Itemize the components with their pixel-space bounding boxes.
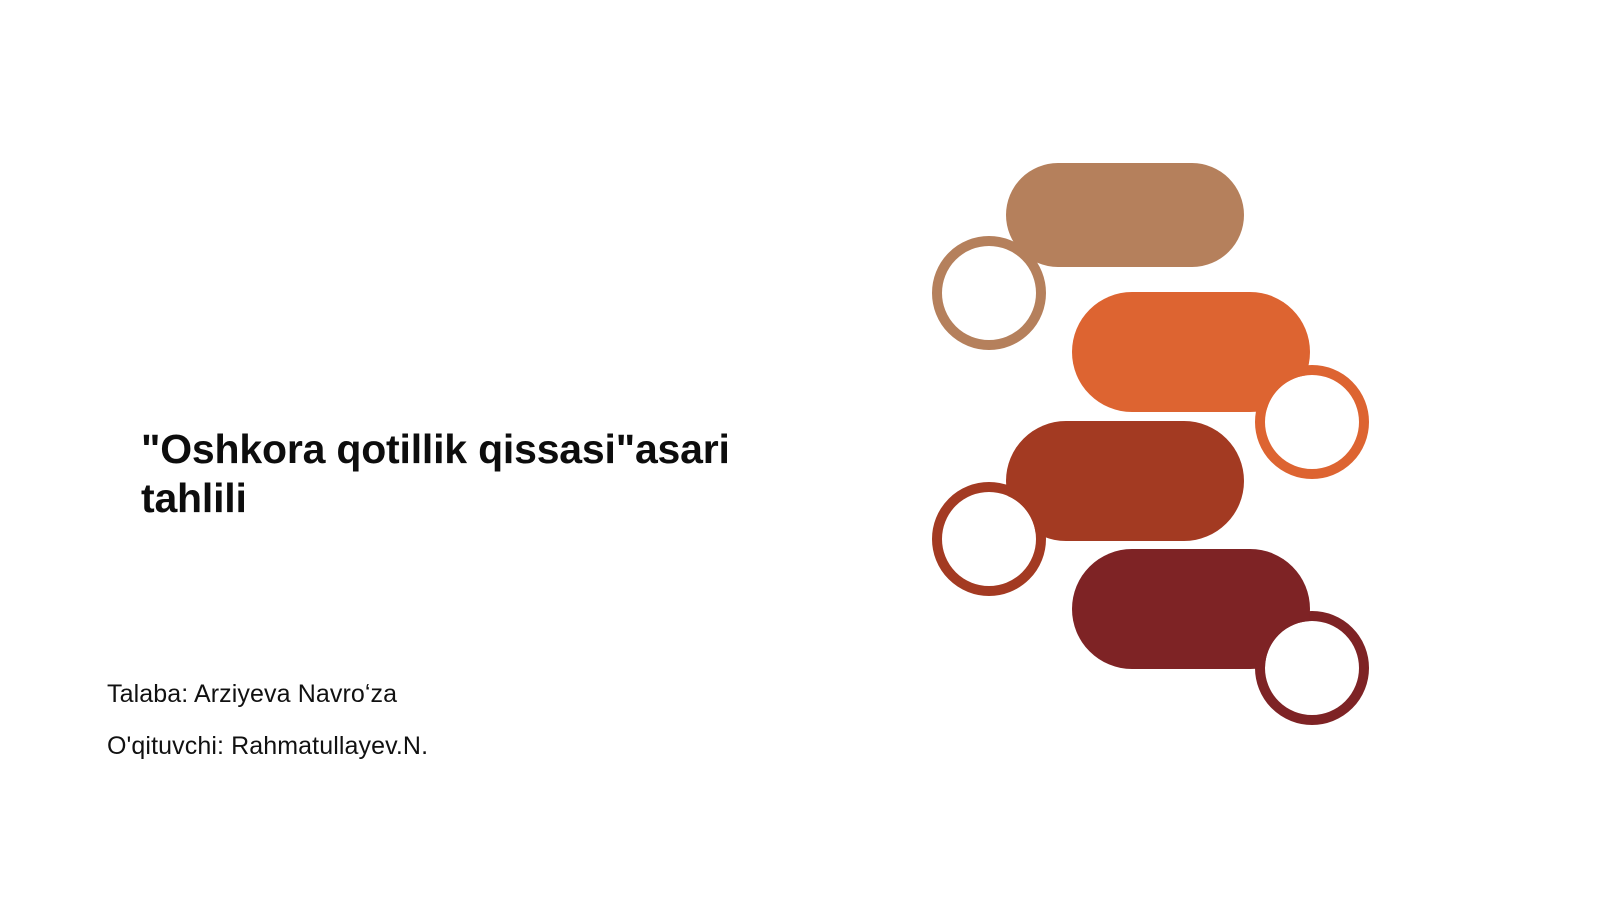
title-slide: "Oshkora qotillik qissasi"asari tahlili … — [0, 0, 1600, 900]
pill-row-4-maroon — [1072, 549, 1310, 669]
subtitle-teacher: O'qituvchi: Rahmatullayev.N. — [107, 720, 807, 772]
pill-row-1-tan — [1006, 163, 1244, 267]
pill-ring-stack-svg — [890, 140, 1410, 760]
text-column: "Oshkora qotillik qissasi"asari tahlili … — [0, 0, 900, 900]
subtitle-student: Talaba: Arziyeva Navroʻza — [107, 668, 807, 720]
pill-row-3-rust — [1006, 421, 1244, 541]
pill-row-2-orange — [1072, 292, 1310, 412]
page-title: "Oshkora qotillik qissasi"asari tahlili — [141, 425, 841, 523]
decor-item-row-4-maroon — [1072, 549, 1364, 720]
subtitle-block: Talaba: Arziyeva Navroʻza O'qituvchi: Ra… — [107, 668, 807, 772]
ring-row-1-tan — [937, 241, 1041, 345]
decorative-graphic — [890, 140, 1410, 760]
